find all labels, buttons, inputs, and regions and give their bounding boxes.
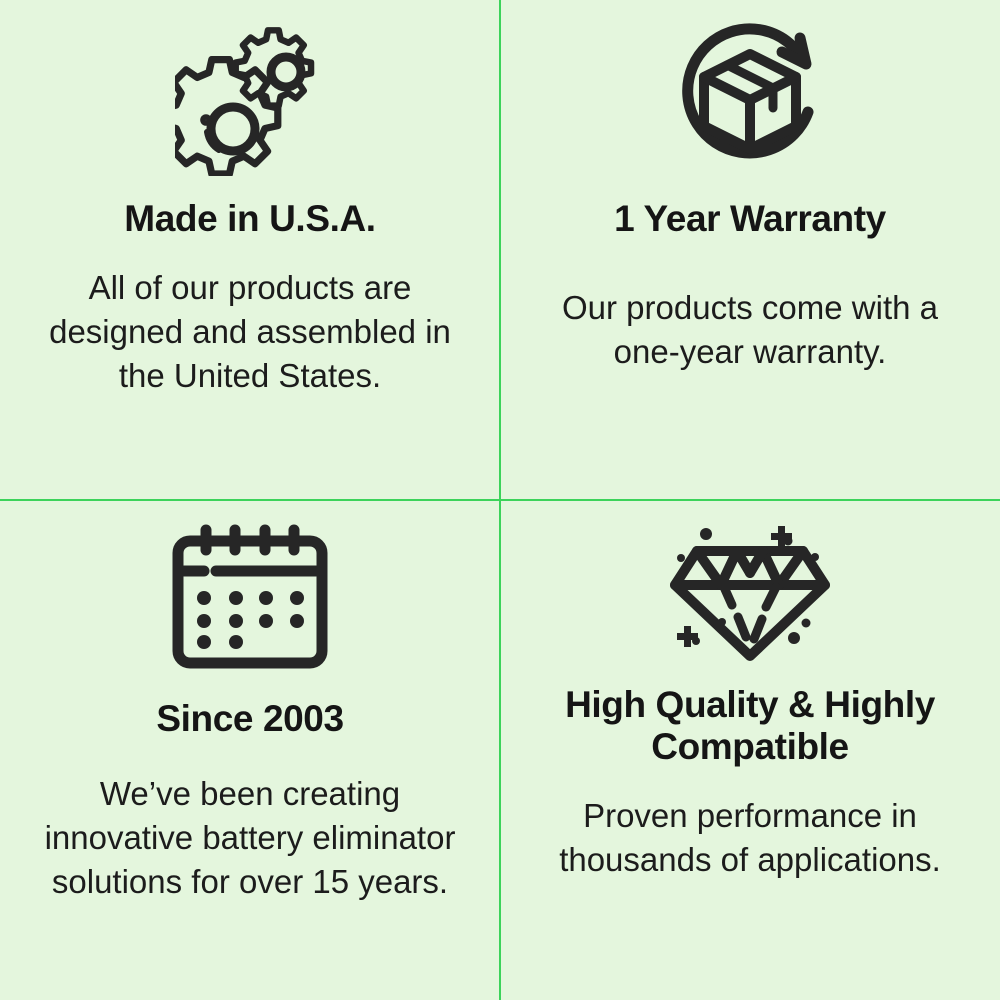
calendar-icon bbox=[26, 500, 474, 672]
feature-cell-high-quality: High Quality & Highly Compatible Proven … bbox=[500, 500, 1000, 1000]
box-rotate-arrow-icon bbox=[526, 0, 974, 178]
feature-cell-made-in-usa: Made in U.S.A. All of our products are d… bbox=[0, 0, 500, 500]
cell-title: Since 2003 bbox=[26, 698, 474, 740]
cell-body: Proven performance in thousands of appli… bbox=[526, 794, 974, 882]
cell-title: High Quality & Highly Compatible bbox=[526, 684, 974, 768]
cell-body: Our products come with a one-year warran… bbox=[526, 286, 974, 374]
feature-grid: Made in U.S.A. All of our products are d… bbox=[0, 0, 1000, 1000]
cell-body: We’ve been creating innovative battery e… bbox=[26, 772, 474, 904]
gears-icon bbox=[26, 0, 474, 178]
feature-cell-one-year-warranty: 1 Year Warranty Our products come with a… bbox=[500, 0, 1000, 500]
cell-body: All of our products are designed and ass… bbox=[26, 266, 474, 398]
cell-title: 1 Year Warranty bbox=[526, 198, 974, 240]
diamond-icon bbox=[526, 500, 974, 672]
feature-cell-since-2003: Since 2003 We’ve been creating innovativ… bbox=[0, 500, 500, 1000]
cell-title: Made in U.S.A. bbox=[26, 198, 474, 240]
